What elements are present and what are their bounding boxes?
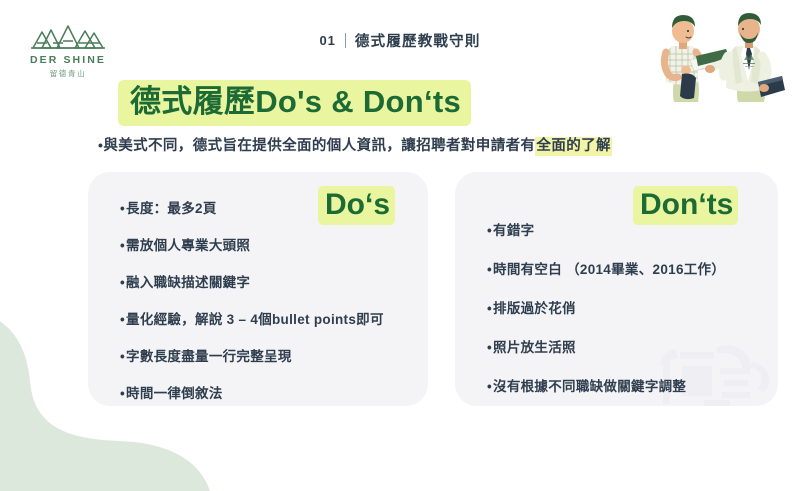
donts-item-text: 時間有空白 （2014畢業、2016工作） (493, 262, 725, 277)
list-item: •時間一律倒敘法 (120, 385, 430, 402)
dos-list: •長度：最多2頁 •需放個人專業大頭照 •融入職缺描述關鍵字 •量化經驗，解說 … (120, 200, 430, 422)
page-title: 德式履歷教戰守則 (355, 30, 481, 51)
logo-subtitle: 留德青山 (50, 68, 86, 79)
donts-item-text: 有錯字 (493, 223, 534, 238)
list-item: •排版過於花俏 (487, 300, 777, 317)
donts-item-text: 排版過於花俏 (493, 301, 576, 316)
list-bullet: • (487, 378, 492, 395)
list-item: •量化經驗，解說 3 – 4個bullet points即可 (120, 311, 430, 328)
header-number: 01 (319, 33, 335, 48)
dos-item-text: 量化經驗，解說 3 – 4個bullet points即可 (126, 312, 384, 327)
dos-label: Do‘s (318, 188, 395, 222)
slide: DER SHINE 留德青山 01 德式履歷教戰守則 (0, 0, 800, 451)
list-bullet: • (120, 311, 125, 328)
list-bullet: • (120, 348, 125, 365)
list-bullet: • (120, 385, 125, 402)
list-item: •融入職缺描述關鍵字 (120, 274, 430, 291)
donts-item-text: 沒有根據不同職缺做關鍵字調整 (493, 379, 686, 394)
list-bullet: • (487, 261, 492, 278)
list-bullet: • (120, 237, 125, 254)
list-item: •字數長度盡量一行完整呈現 (120, 348, 430, 365)
two-men-illustration (652, 2, 792, 102)
dos-item-text: 長度：最多2頁 (126, 201, 217, 216)
list-bullet: • (120, 274, 125, 291)
donts-list: •有錯字 •時間有空白 （2014畢業、2016工作） •排版過於花俏 •照片放… (487, 222, 777, 417)
donts-label: Don‘ts (633, 188, 738, 222)
list-bullet: • (487, 300, 492, 317)
dos-item-text: 字數長度盡量一行完整呈現 (126, 349, 292, 364)
list-bullet: • (487, 339, 492, 356)
list-item: •時間有空白 （2014畢業、2016工作） (487, 261, 777, 278)
list-item: •照片放生活照 (487, 339, 777, 356)
dos-item-text: 時間一律倒敘法 (126, 386, 223, 401)
subtitle-line: •與美式不同，德式旨在提供全面的個人資訊，讓招聘者對申請者有全面的了解 (98, 134, 612, 155)
logo-name: DER SHINE (30, 54, 106, 66)
list-bullet: • (120, 200, 125, 217)
slide-header: 01 德式履歷教戰守則 (0, 30, 800, 51)
dos-item-text: 需放個人專業大頭照 (126, 238, 250, 253)
subtitle-highlighted-text: 全面的了解 (535, 137, 612, 156)
list-item: •需放個人專業大頭照 (120, 237, 430, 254)
list-item: •沒有根據不同職缺做關鍵字調整 (487, 378, 777, 395)
subtitle-plain-text: 與美式不同，德式旨在提供全面的個人資訊，讓招聘者對申請者有 (103, 138, 535, 154)
dos-item-text: 融入職缺描述關鍵字 (126, 275, 250, 290)
header-divider (345, 33, 346, 48)
list-bullet: • (487, 222, 492, 239)
donts-item-text: 照片放生活照 (493, 340, 576, 355)
main-title: 德式履歷Do's & Don‘ts (118, 80, 471, 126)
